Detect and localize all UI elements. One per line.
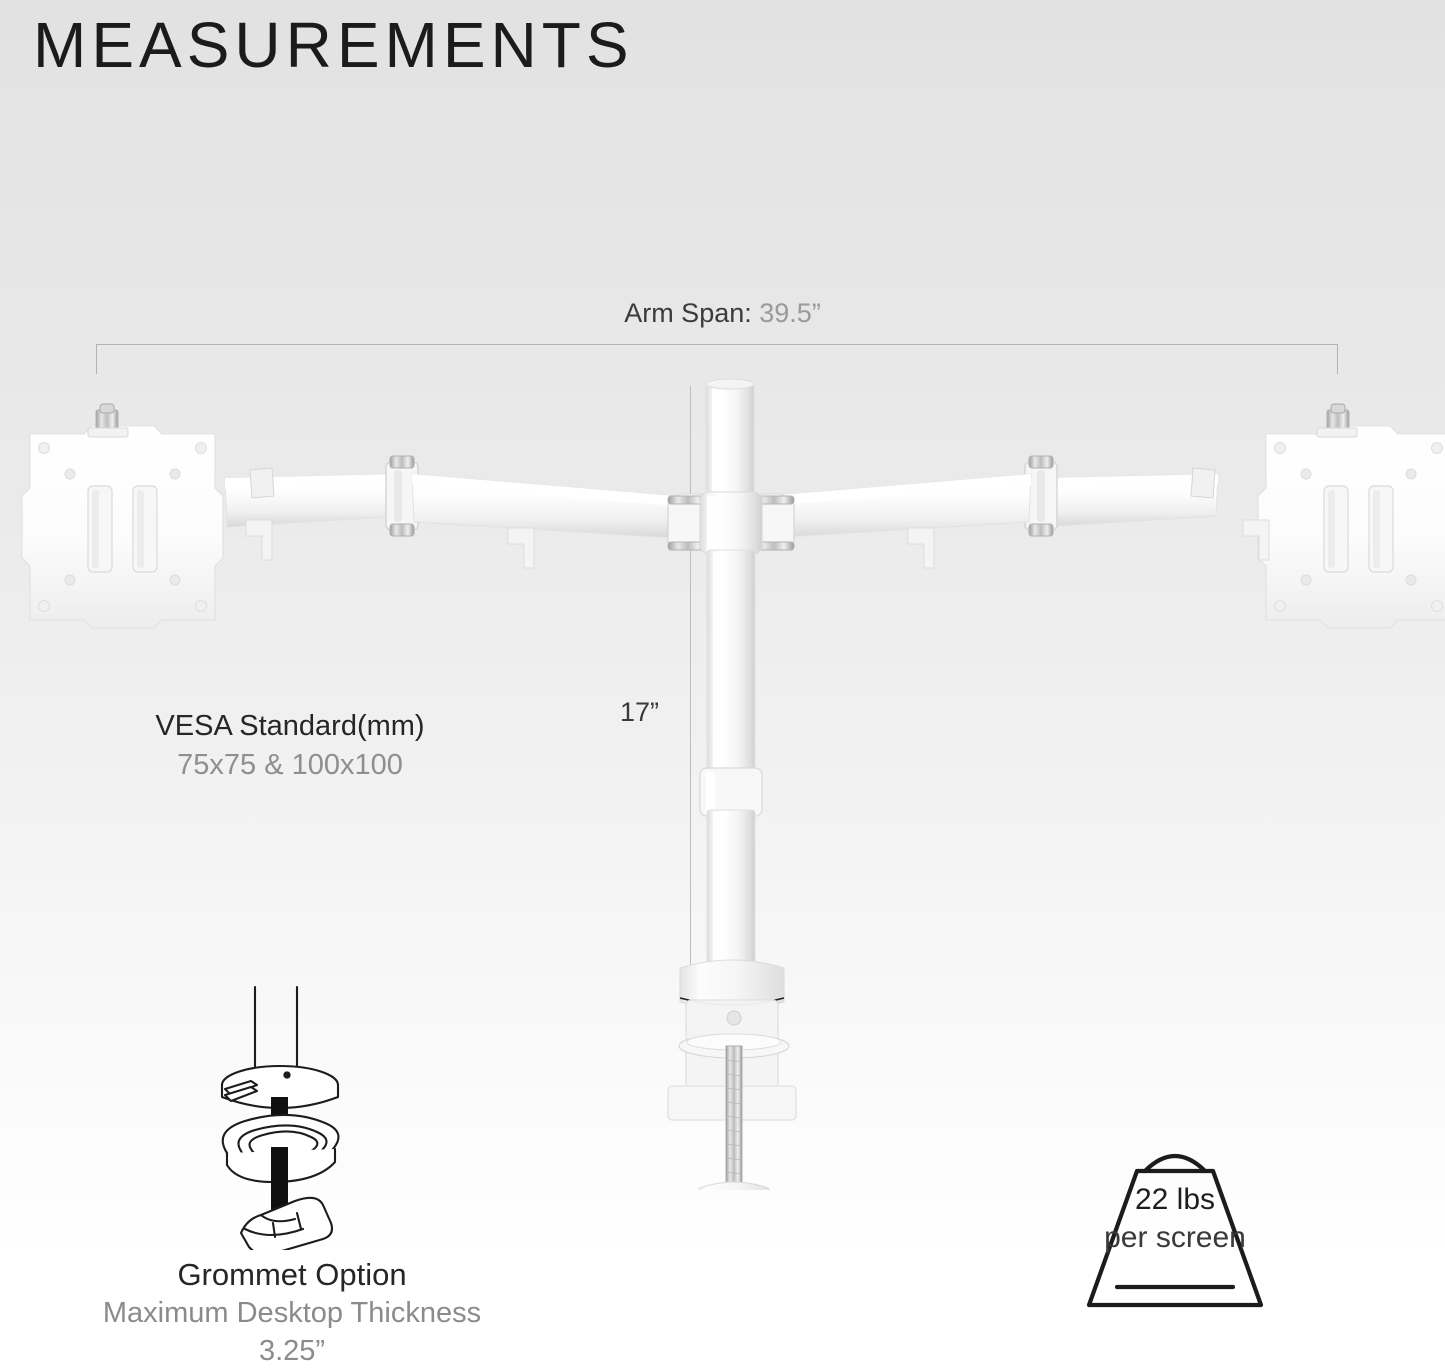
arm-span-label: Arm Span: 39.5”	[0, 298, 1445, 329]
weight-icon	[1075, 1135, 1275, 1310]
vesa-plate-left	[22, 404, 223, 628]
vesa-plate-right	[1258, 404, 1445, 628]
arm-span-value: 39.5”	[759, 298, 821, 328]
page-title: MEASUREMENTS	[33, 12, 634, 79]
grommet-title: Grommet Option	[32, 1255, 552, 1295]
grommet-value: 3.25”	[32, 1333, 552, 1371]
arm-span-dimension-line	[96, 344, 1338, 345]
vesa-spec-block: VESA Standard(mm) 75x75 & 100x100	[60, 707, 520, 785]
grommet-subtitle: Maximum Desktop Thickness	[32, 1295, 552, 1333]
pole-hub	[668, 492, 794, 554]
diagram-canvas: MEASUREMENTS Arm Span: 39.5” 17”	[0, 0, 1445, 1371]
arm-left-inner	[412, 474, 676, 568]
vesa-title: VESA Standard(mm)	[60, 707, 520, 746]
vesa-sizes: 75x75 & 100x100	[60, 746, 520, 785]
arm-right-inner	[767, 474, 1031, 568]
grommet-illustration	[185, 985, 375, 1250]
center-pole-upper	[706, 379, 754, 504]
desk-clamp	[668, 960, 796, 1190]
grommet-spec-block: Grommet Option Maximum Desktop Thickness…	[32, 1255, 552, 1371]
center-pole-lower	[700, 550, 762, 970]
arm-span-label-text: Arm Span:	[624, 298, 752, 328]
arm-right-outer	[1041, 468, 1269, 560]
arm-left-outer	[225, 468, 402, 560]
